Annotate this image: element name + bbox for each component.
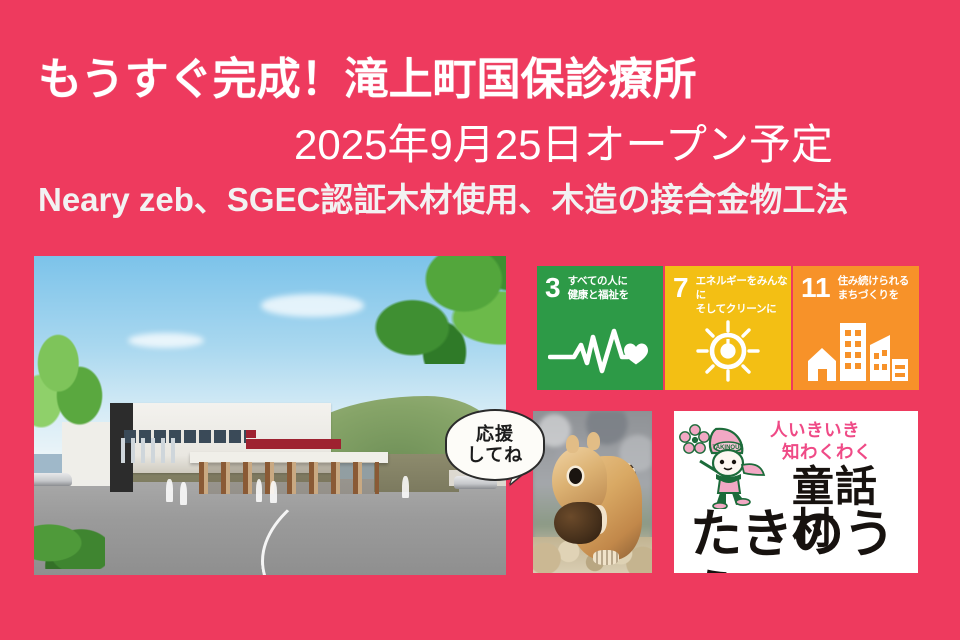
speech-bubble-line-1: 応援 — [476, 424, 514, 445]
sdg-7-label: エネルギーをみんなに そしてクリーンに — [696, 275, 791, 317]
sdg-7-label-line-2: そしてクリーンに — [696, 303, 791, 317]
logo-catchphrase-line-2: 知わくわく — [782, 441, 912, 463]
headline-line-1: もうすぐ完成！滝上町国保診療所 — [38, 58, 697, 102]
sdg-7-heading: 7 エネルギーをみんなに そしてクリーンに — [673, 275, 791, 317]
sdg-3-number: 3 — [545, 275, 561, 301]
chipmunk-photo — [533, 411, 652, 573]
sdg-3-label-line-1: すべての人に — [568, 275, 629, 289]
mascot-character-icon: TAKINOUE — [686, 423, 772, 509]
entrance-red-roof — [246, 439, 340, 449]
speech-bubble-line-2: してね — [467, 445, 523, 466]
city-buildings-icon — [793, 320, 919, 382]
chipmunk-feet — [593, 550, 619, 565]
building-window-grid — [121, 438, 178, 464]
sdg-11-label-line-1: 住み続けられる — [838, 275, 909, 289]
person-4 — [270, 481, 277, 503]
person-5 — [402, 476, 409, 498]
car-left — [34, 473, 72, 486]
speech-bubble: 応援 してね — [445, 409, 545, 481]
sdg-badge-11: 11 住み続けられる まちづくりを — [793, 266, 919, 390]
headline-line-2: 2025年9月25日オープン予定 — [294, 124, 833, 166]
logo-catchphrase-line-1: 人いきいき — [770, 419, 912, 441]
sdg-badge-7: 7 エネルギーをみんなに そしてクリーンに — [665, 266, 791, 390]
person-3 — [256, 479, 263, 501]
logo-takinoue-text: たきのうぇ — [690, 509, 918, 573]
tree-left — [34, 320, 105, 428]
chipmunk-ear-right — [587, 432, 600, 450]
sdg-11-heading: 11 住み続けられる まちづくりを — [801, 275, 909, 303]
tree-right — [364, 256, 506, 364]
bush-foreground — [34, 511, 105, 568]
entrance-wood-columns — [199, 462, 378, 494]
sdg-7-label-line-1: エネルギーをみんなに — [696, 275, 791, 303]
sdg-11-label-line-2: まちづくりを — [838, 289, 909, 303]
chipmunk-ear-left — [566, 435, 579, 453]
sdg-3-label: すべての人に 健康と福祉を — [568, 275, 629, 303]
sun-power-icon — [665, 320, 791, 382]
logo-catchphrase: 人いきいき 知わくわく — [770, 419, 912, 464]
person-1 — [166, 479, 173, 501]
sdg-3-heading: 3 すべての人に 健康と福祉を — [545, 275, 629, 303]
sdg-3-label-line-2: 健康と福祉を — [568, 289, 629, 303]
poster-canvas: もうすぐ完成！滝上町国保診療所 2025年9月25日オープン予定 Neary z… — [0, 0, 960, 640]
chipmunk-eye — [569, 468, 582, 484]
clinic-render-photo — [34, 256, 506, 575]
speech-bubble-text: 応援 してね — [447, 411, 543, 479]
sdg-11-label: 住み続けられる まちづくりを — [838, 275, 909, 303]
heartbeat-icon — [537, 320, 663, 382]
headline-line-3: Neary zeb、SGEC認証木材使用、木造の接合金物工法 — [38, 183, 848, 216]
takinoue-village-logo: TAKINOUE 人いきいき 知わくわく — [674, 411, 918, 573]
cloud-1 — [261, 294, 365, 316]
person-2 — [180, 482, 187, 504]
sdg-11-number: 11 — [801, 275, 831, 301]
walnut — [554, 502, 602, 544]
sdg-badge-3: 3 すべての人に 健康と福祉を — [537, 266, 663, 390]
sdg-7-number: 7 — [673, 275, 689, 301]
